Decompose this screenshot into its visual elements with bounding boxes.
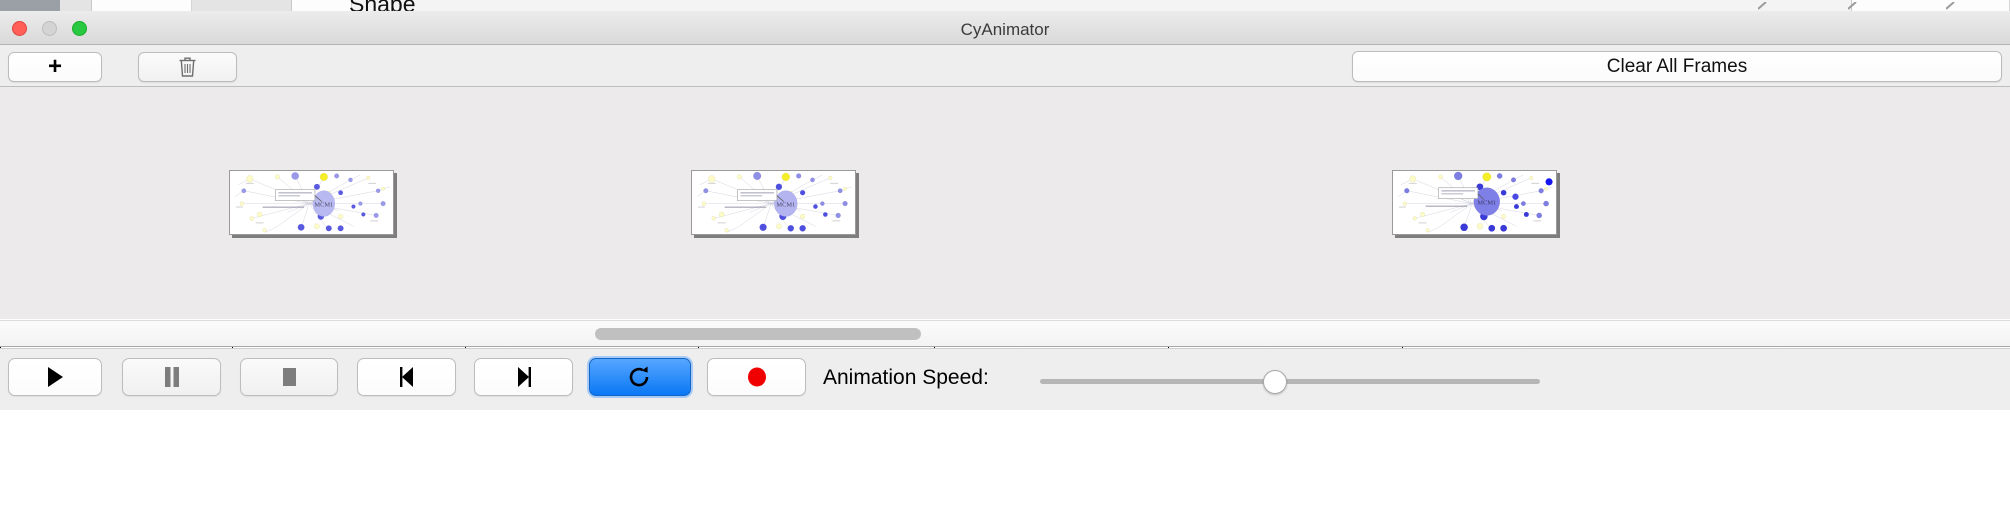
timeline-scrollbar[interactable] <box>0 320 2010 347</box>
loop-button[interactable] <box>589 358 691 396</box>
plus-icon: + <box>48 55 62 79</box>
clear-all-frames-button[interactable]: Clear All Frames <box>1352 51 2002 82</box>
saturated-node <box>1545 178 1552 185</box>
window-title: CyAnimator <box>0 20 2010 40</box>
cyanimator-window: Shape CyAnimator + Clear All Frames <box>0 0 2010 510</box>
play-button[interactable] <box>8 358 102 396</box>
trash-icon <box>178 56 197 78</box>
record-icon <box>746 366 768 388</box>
frame-thumbnail-3[interactable]: MCM1 <box>1392 170 1557 235</box>
chevron-icon <box>1946 2 1957 10</box>
hub-node-label: MCM1 <box>1477 200 1496 207</box>
animation-speed-slider[interactable] <box>1040 379 1540 384</box>
network-thumbnail-image: MCM1 <box>230 171 393 235</box>
add-frame-button[interactable]: + <box>8 52 102 82</box>
skip-to-start-button[interactable] <box>357 358 456 396</box>
toolbar: + Clear All Frames <box>0 45 2010 87</box>
highlight-node <box>320 173 328 181</box>
pause-button[interactable] <box>122 358 221 396</box>
saturated-node <box>1512 194 1518 200</box>
clear-all-frames-label: Clear All Frames <box>1607 56 1747 78</box>
stop-icon <box>279 366 299 388</box>
title-bar: CyAnimator <box>0 11 2010 45</box>
loop-icon <box>628 365 652 389</box>
frame-thumbnail-1[interactable]: MCM1 <box>229 170 394 235</box>
scrollbar-thumb[interactable] <box>595 328 921 340</box>
network-thumbnail-image: MCM1 <box>1393 171 1556 235</box>
skip-end-icon <box>514 366 534 388</box>
frame-thumbnail-2[interactable]: MCM1 <box>691 170 856 235</box>
chevron-icon <box>1848 2 1859 10</box>
highlight-node <box>782 173 790 181</box>
hub-node-label: MCM1 <box>314 202 333 209</box>
animation-speed-thumb[interactable] <box>1263 370 1287 394</box>
playback-controls: Animation Speed: <box>0 348 2010 410</box>
animation-speed-label: Animation Speed: <box>823 366 989 390</box>
delete-frame-button[interactable] <box>138 52 237 82</box>
stop-button[interactable] <box>240 358 338 396</box>
skip-start-icon <box>397 366 417 388</box>
play-icon <box>45 366 65 388</box>
record-button[interactable] <box>707 358 806 396</box>
timeline-panel[interactable]: MCM1 <box>0 87 2010 319</box>
network-thumbnail-image: MCM1 <box>692 171 855 235</box>
chevron-icon <box>1758 2 1769 10</box>
highlight-node <box>1483 173 1491 181</box>
pause-icon <box>163 366 181 388</box>
annotation-box <box>1438 188 1478 199</box>
skip-to-end-button[interactable] <box>474 358 573 396</box>
hub-node-label: MCM1 <box>776 202 795 209</box>
